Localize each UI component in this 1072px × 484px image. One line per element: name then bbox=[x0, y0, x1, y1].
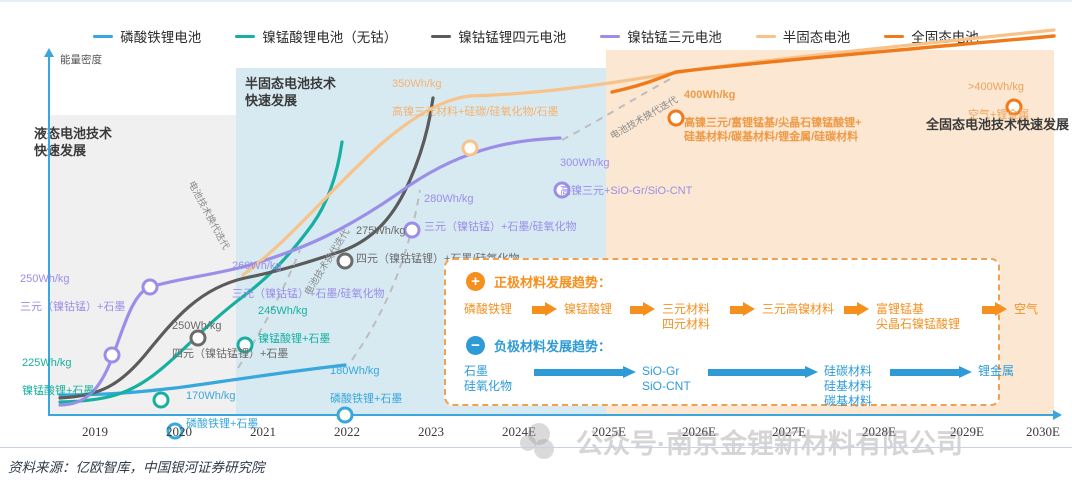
footer-divider bbox=[0, 447, 1072, 448]
anode-step: 硅碳材料 硅基材料 碳基材料 bbox=[824, 364, 890, 409]
cathode-chain: 磷酸铁锂 镍锰酸锂 三元材料 四元材料 三元高镍材料 富锂锰基 尖晶石镍锰酸锂 … bbox=[464, 302, 1048, 332]
point-label-ncm-250: 250Wh/kg 三元（镍钴锰）+石墨 bbox=[20, 258, 125, 314]
cathode-header: + 正极材料发展趋势： bbox=[466, 272, 611, 291]
legend-item-semi-solid[interactable]: 半固态电池 bbox=[756, 26, 851, 46]
x-axis-ticks: 2019 2020 2021 2022 2023 2024E 2025E 202… bbox=[0, 424, 1072, 446]
point-value: 300Wh/kg bbox=[560, 157, 610, 169]
point-value: 275Wh/kg bbox=[356, 225, 406, 237]
plus-icon: + bbox=[466, 272, 485, 291]
data-point-lnmo-2021[interactable] bbox=[153, 392, 170, 409]
arrow-right-icon bbox=[534, 366, 636, 379]
x-tick: 2026E bbox=[682, 424, 716, 440]
point-value: 400Wh/kg bbox=[684, 89, 735, 101]
legend-label: 镍锰酸锂电池（无钴） bbox=[262, 26, 397, 46]
x-tick: 2022 bbox=[334, 424, 360, 440]
point-value: 225Wh/kg bbox=[22, 357, 72, 369]
source-note: 资料来源：亿欧智库，中国银河证券研究院 bbox=[8, 456, 265, 476]
x-tick: 2025E bbox=[592, 424, 626, 440]
point-desc: 三元（镍钴锰）+石墨/硅氧化物 bbox=[424, 221, 576, 233]
point-value: 260Wh/kg bbox=[232, 260, 282, 272]
anode-title: 负极材料发展趋势： bbox=[494, 336, 611, 355]
arrow-right-icon bbox=[708, 366, 818, 379]
legend-item-ncm[interactable]: 镍钴锰三元电池 bbox=[600, 26, 722, 46]
point-value: 250Wh/kg bbox=[20, 273, 70, 285]
x-tick: 2023 bbox=[418, 424, 444, 440]
legend-swatch bbox=[600, 35, 620, 38]
data-point-all-solid-2027[interactable] bbox=[668, 110, 685, 127]
point-desc: 四元（镍钴锰锂）+石墨 bbox=[172, 348, 288, 360]
point-value: 350Wh/kg bbox=[392, 78, 442, 90]
point-value: 180Wh/kg bbox=[330, 365, 380, 377]
data-point-lfp-2022[interactable] bbox=[337, 407, 354, 424]
point-label-ncm-280: 280Wh/kg 三元（镍钴锰）+石墨/硅氧化物 bbox=[424, 178, 576, 234]
point-desc: 高镍三元/富锂锰基/尖晶石镍锰酸锂+ 硅基材料/碳基材料/锂金属/硅碳材料 bbox=[684, 117, 862, 143]
anode-step: 石墨 硅氧化物 bbox=[464, 364, 534, 394]
point-label-all-solid-400plus: >400Wh/kg 空气+锂金属 bbox=[968, 66, 1029, 122]
cathode-step: 空气 bbox=[1014, 302, 1048, 317]
legend-label: 磷酸铁锂电池 bbox=[120, 26, 201, 46]
point-desc: 高镍三元材料+硅碳/硅氧化物/石墨 bbox=[392, 106, 559, 118]
legend-item-lfp[interactable]: 磷酸铁锂电池 bbox=[93, 26, 201, 46]
legend-swatch bbox=[431, 35, 451, 38]
point-value: 280Wh/kg bbox=[424, 193, 474, 205]
anode-header: − 负极材料发展趋势： bbox=[466, 336, 611, 355]
legend-swatch bbox=[235, 35, 255, 38]
arrow-right-icon bbox=[630, 302, 656, 317]
legend-swatch bbox=[884, 35, 904, 38]
x-tick: 2029E bbox=[950, 424, 984, 440]
data-point-semi-solid-2024[interactable] bbox=[462, 140, 479, 157]
x-tick: 2024E bbox=[502, 424, 536, 440]
point-label-ncm-300: 300Wh/kg 高镍三元+SiO-Gr/SiO-CNT bbox=[560, 142, 692, 198]
point-label-lfp-170: 170Wh/kg 磷酸铁锂+石墨 bbox=[186, 375, 258, 431]
data-point-ncm-2021[interactable] bbox=[142, 279, 159, 296]
anode-step: 锂金属 bbox=[978, 364, 1032, 379]
point-desc: 镍锰酸锂+石墨 bbox=[22, 385, 94, 397]
point-value: 250Wh/kg bbox=[172, 320, 222, 332]
legend-item-lnmo[interactable]: 镍锰酸锂电池（无钴） bbox=[235, 26, 397, 46]
x-tick: 2019 bbox=[82, 424, 108, 440]
anode-chain: 石墨 硅氧化物 SiO-Gr SiO-CNT 硅碳材料 硅基材料 碳基材料 锂金… bbox=[464, 364, 1032, 409]
arrow-right-icon bbox=[982, 302, 1008, 317]
point-value: 170Wh/kg bbox=[186, 390, 236, 402]
x-tick: 2027E bbox=[772, 424, 806, 440]
cathode-step: 镍锰酸锂 bbox=[564, 302, 624, 317]
point-desc: 磷酸铁锂+石墨 bbox=[330, 393, 402, 405]
legend-item-ncml[interactable]: 镍钴锰锂四元电池 bbox=[431, 26, 566, 46]
point-desc: 高镍三元+SiO-Gr/SiO-CNT bbox=[560, 185, 692, 197]
point-label-lnmo-225: 225Wh/kg 镍锰酸锂+石墨 bbox=[22, 342, 94, 398]
x-tick: 2020 bbox=[166, 424, 192, 440]
arrow-right-icon bbox=[844, 302, 870, 317]
x-tick: 2028E bbox=[862, 424, 896, 440]
data-point-ncm-2020[interactable] bbox=[104, 347, 121, 364]
cathode-step: 磷酸铁锂 bbox=[464, 302, 526, 317]
cathode-title: 正极材料发展趋势： bbox=[494, 272, 611, 291]
legend-label: 半固态电池 bbox=[783, 26, 851, 46]
legend-label: 镍钴锰三元电池 bbox=[627, 26, 722, 46]
point-value: >400Wh/kg bbox=[968, 81, 1024, 93]
arrow-right-icon bbox=[532, 302, 558, 317]
minus-icon: − bbox=[466, 336, 485, 355]
point-value: 245Wh/kg bbox=[258, 305, 308, 317]
legend-swatch bbox=[93, 35, 113, 38]
anode-step: SiO-Gr SiO-CNT bbox=[642, 364, 708, 394]
x-tick: 2021 bbox=[250, 424, 276, 440]
top-rule bbox=[0, 0, 1072, 2]
legend-swatch bbox=[756, 35, 776, 38]
x-tick: 2030E bbox=[1026, 424, 1060, 440]
arrow-right-icon bbox=[730, 302, 756, 317]
point-desc: 镍锰酸锂+石墨 bbox=[258, 333, 330, 345]
point-label-all-solid-400: 400Wh/kg 高镍三元/富锂锰基/尖晶石镍锰酸锂+ 硅基材料/碳基材料/锂金… bbox=[684, 74, 862, 144]
cathode-step: 三元高镍材料 bbox=[762, 302, 838, 317]
cathode-step: 富锂锰基 尖晶石镍锰酸锂 bbox=[876, 302, 976, 332]
point-desc: 三元（镍钴锰）+石墨 bbox=[20, 301, 125, 313]
point-desc: 空气+锂金属 bbox=[968, 109, 1029, 121]
point-label-semi-solid-350: 350Wh/kg 高镍三元材料+硅碳/硅氧化物/石墨 bbox=[392, 63, 559, 119]
cathode-step: 三元材料 四元材料 bbox=[662, 302, 724, 332]
arrow-right-icon bbox=[890, 366, 972, 379]
legend-label: 镍钴锰锂四元电池 bbox=[458, 26, 566, 46]
point-label-lfp-180: 180Wh/kg 磷酸铁锂+石墨 bbox=[330, 350, 402, 406]
materials-trend-box: + 正极材料发展趋势： 磷酸铁锂 镍锰酸锂 三元材料 四元材料 三元高镍材料 富… bbox=[444, 258, 1000, 406]
